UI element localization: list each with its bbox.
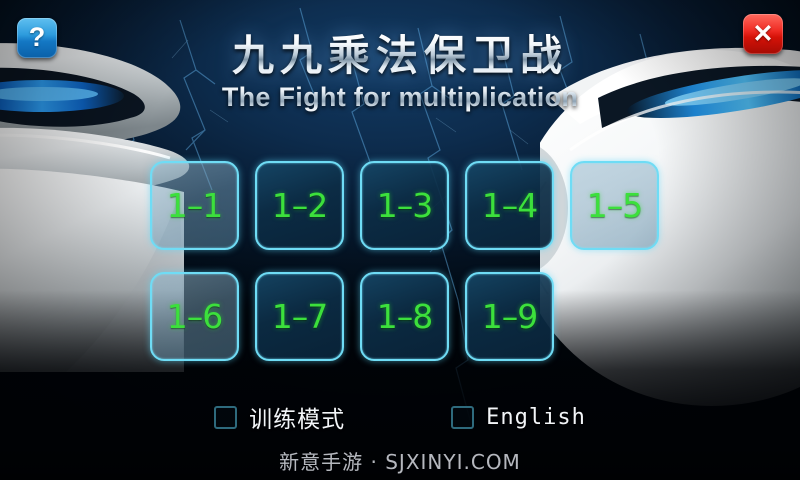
- level-button-label: 1–7: [272, 297, 328, 336]
- checkbox-icon[interactable]: [451, 406, 474, 429]
- level-button-label: 1–6: [167, 297, 223, 336]
- option-label: English: [486, 405, 586, 430]
- level-button-1-5[interactable]: 1–5: [570, 161, 659, 250]
- level-button-1-8[interactable]: 1–8: [360, 272, 449, 361]
- level-button-1-6[interactable]: 1–6: [150, 272, 239, 361]
- game-subtitle-english: The Fight for multiplication: [0, 82, 800, 113]
- level-button-1-1[interactable]: 1–1: [150, 161, 239, 250]
- level-button-1-9[interactable]: 1–9: [465, 272, 554, 361]
- option-english[interactable]: English: [451, 405, 586, 430]
- level-select-grid: 1–11–21–31–41–51–61–71–81–9: [150, 161, 675, 361]
- level-button-label: 1–9: [482, 297, 538, 336]
- game-screen: ? ✕ 九九乘法保卫战 The Fight for multiplication…: [0, 0, 800, 480]
- level-button-label: 1–8: [377, 297, 433, 336]
- option-training-mode[interactable]: 训练模式: [214, 400, 345, 434]
- level-row: 1–11–21–31–41–5: [150, 161, 675, 250]
- level-button-label: 1–5: [587, 186, 643, 225]
- level-row: 1–61–71–81–9: [150, 272, 675, 361]
- options-row: 训练模式English: [0, 400, 800, 434]
- level-button-1-3[interactable]: 1–3: [360, 161, 449, 250]
- level-button-label: 1–1: [167, 186, 223, 225]
- level-button-label: 1–2: [272, 186, 328, 225]
- level-button-1-4[interactable]: 1–4: [465, 161, 554, 250]
- title-block: 九九乘法保卫战 The Fight for multiplication: [0, 34, 800, 113]
- level-button-label: 1–3: [377, 186, 433, 225]
- checkbox-icon[interactable]: [214, 406, 237, 429]
- level-button-1-2[interactable]: 1–2: [255, 161, 344, 250]
- option-label: 训练模式: [249, 400, 345, 434]
- game-title-chinese: 九九乘法保卫战: [0, 34, 800, 78]
- level-button-label: 1–4: [482, 186, 538, 225]
- site-watermark: 新意手游 · SJXINYI.COM: [0, 446, 800, 475]
- level-button-1-7[interactable]: 1–7: [255, 272, 344, 361]
